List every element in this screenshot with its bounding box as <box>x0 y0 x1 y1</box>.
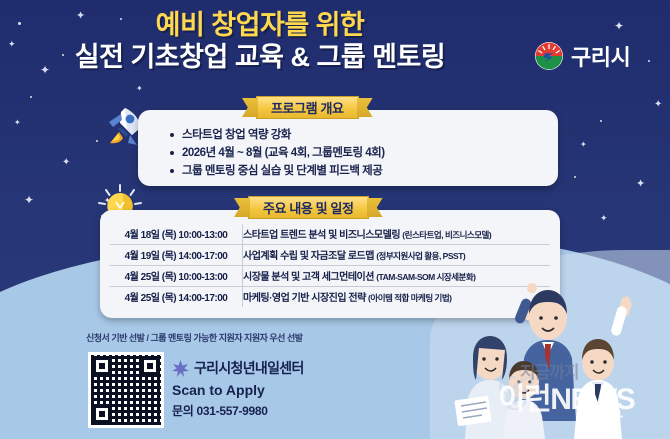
qr-finder-top-right <box>140 356 160 376</box>
star-dot <box>600 120 602 122</box>
sparkle-icon: ✦ <box>24 196 34 205</box>
star-dot <box>648 60 650 62</box>
sparkle-icon: ✦ <box>600 214 608 223</box>
schedule-topic-note: (린스타트업, 비즈니스모델) <box>402 230 491 240</box>
contact-phone: 문의 031-557-9980 <box>172 402 268 419</box>
schedule-date: 4월 25일 (목) 14:00-17:00 <box>110 287 243 308</box>
center-name-lockup: 구리시청년내일센터 <box>172 358 304 378</box>
table-row: 4월 18일 (목) 10:00-13:00 스타트업 트렌드 분석 및 비즈니… <box>110 224 550 245</box>
schedule-topic-text: 사업계획 수립 및 자금조달 로드맵 <box>243 251 374 262</box>
schedule-date: 4월 18일 (목) 10:00-13:00 <box>110 224 243 245</box>
schedule-ribbon-label: 주요 내용 및 일정 <box>263 198 354 217</box>
people-illustration <box>452 258 670 439</box>
sparkle-icon: ✦ <box>136 84 143 93</box>
schedule-topic: 스타트업 트렌드 분석 및 비즈니스모델링 (린스타트업, 비즈니스모델) <box>243 224 551 245</box>
schedule-date: 4월 19일 (목) 14:00-17:00 <box>110 245 243 266</box>
brand-name: 구리시 <box>571 40 630 72</box>
title-line-2: 실전 기초창업 교육 & 그룹 멘토링 <box>0 42 520 74</box>
schedule-topic-text: 마케팅·영업 기반 시장진입 전략 <box>243 293 366 304</box>
scan-to-apply-text: Scan to Apply <box>172 382 265 398</box>
sparkle-icon: ✦ <box>654 100 662 109</box>
list-item: 2026년 4월 ~ 8월 (교육 4회, 그룹멘토링 4회) <box>168 144 558 162</box>
list-item: 스타트업 창업 역량 강화 <box>168 126 558 144</box>
sparkle-icon: ✦ <box>580 140 587 149</box>
overview-bullet-list: 스타트업 창업 역량 강화 2026년 4월 ~ 8월 (교육 4회, 그룹멘토… <box>168 126 558 180</box>
overview-ribbon: 프로그램 개요 <box>256 96 359 119</box>
qr-finder-top-left <box>92 356 112 376</box>
sparkle-icon: ✦ <box>636 180 645 189</box>
schedule-topic-text: 스타트업 트렌드 분석 및 비즈니스모델링 <box>243 230 400 241</box>
brand-lockup: 구리시 <box>534 40 630 72</box>
star-burst-icon <box>172 360 189 377</box>
star-dot <box>574 176 576 178</box>
schedule-topic-note: (아이템 적합 마케팅 기법) <box>368 293 451 303</box>
sparkle-icon: ✦ <box>62 158 70 167</box>
sparkle-icon: ✦ <box>614 22 624 31</box>
title-line-1: 예비 창업자를 위한 <box>0 10 520 42</box>
overview-ribbon-label: 프로그램 개요 <box>271 98 344 117</box>
schedule-date: 4월 25일 (목) 10:00-13:00 <box>110 266 243 287</box>
list-item: 그룹 멘토링 중심 실습 및 단계별 피드백 제공 <box>168 162 558 180</box>
schedule-topic-text: 시장물 분석 및 고객 세그먼테이션 <box>243 272 374 283</box>
poster-title: 예비 창업자를 위한 실전 기초창업 교육 & 그룹 멘토링 <box>0 10 520 74</box>
center-name-text: 구리시청년내일센터 <box>194 358 304 378</box>
qr-pattern <box>91 355 161 425</box>
poster-root: ✦ ✦ ✦ ✦ ✦ ✦ ✦ ✦ ✦ ✦ ✦ ✦ ✦ 예비 창업자를 위한 실전 … <box>0 0 670 439</box>
qr-finder-bottom-left <box>92 404 112 424</box>
guri-city-emblem-icon <box>534 41 564 71</box>
sparkle-icon: ✦ <box>14 118 21 127</box>
star-dot <box>30 96 32 98</box>
selection-footnote: 신청서 기반 선발 / 그룹 멘토링 가능한 지원자 지원자 우선 선발 <box>86 331 303 344</box>
qr-code[interactable] <box>88 352 164 428</box>
schedule-ribbon: 주요 내용 및 일정 <box>248 196 369 219</box>
